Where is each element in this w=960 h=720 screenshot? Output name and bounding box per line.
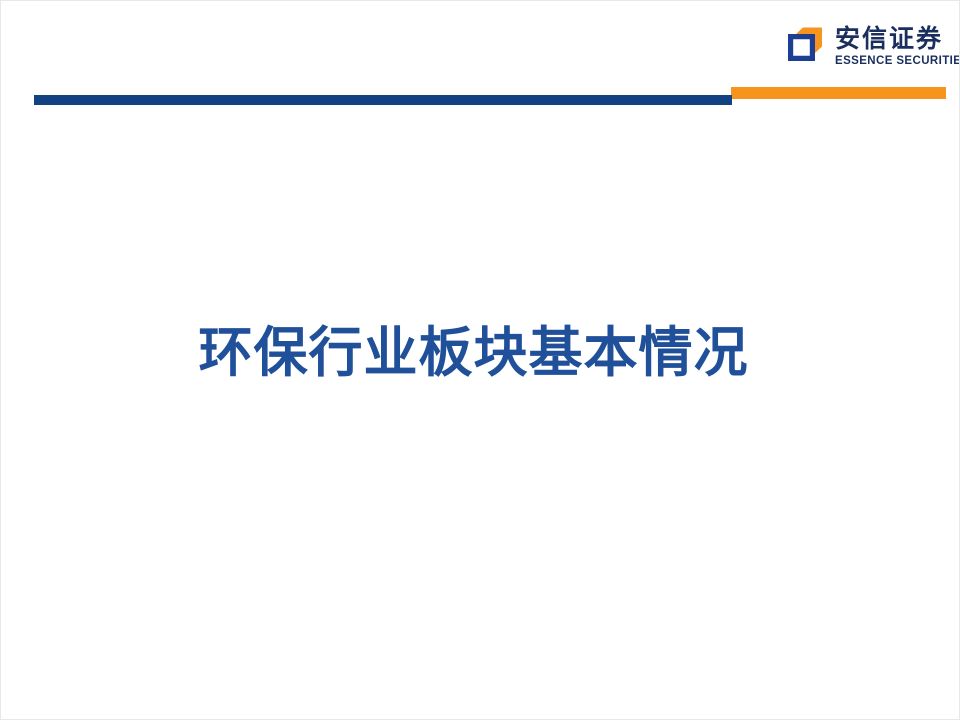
orange-accent-rule — [731, 87, 946, 99]
brand-wordmark: 安信证券 ESSENCE SECURITIES — [835, 24, 960, 68]
presentation-slide: 安信证券 ESSENCE SECURITIES 环保行业板块基本情况 — [0, 0, 960, 720]
section-title: 环保行业板块基本情况 — [1, 317, 946, 389]
essence-securities-cube-logo-icon — [784, 25, 826, 67]
brand-name-en: ESSENCE SECURITIES — [835, 54, 960, 68]
brand-name-cn: 安信证券 — [835, 26, 960, 53]
blue-divider-rule — [34, 95, 732, 105]
brand-logo-lockup: 安信证券 ESSENCE SECURITIES — [784, 15, 956, 77]
